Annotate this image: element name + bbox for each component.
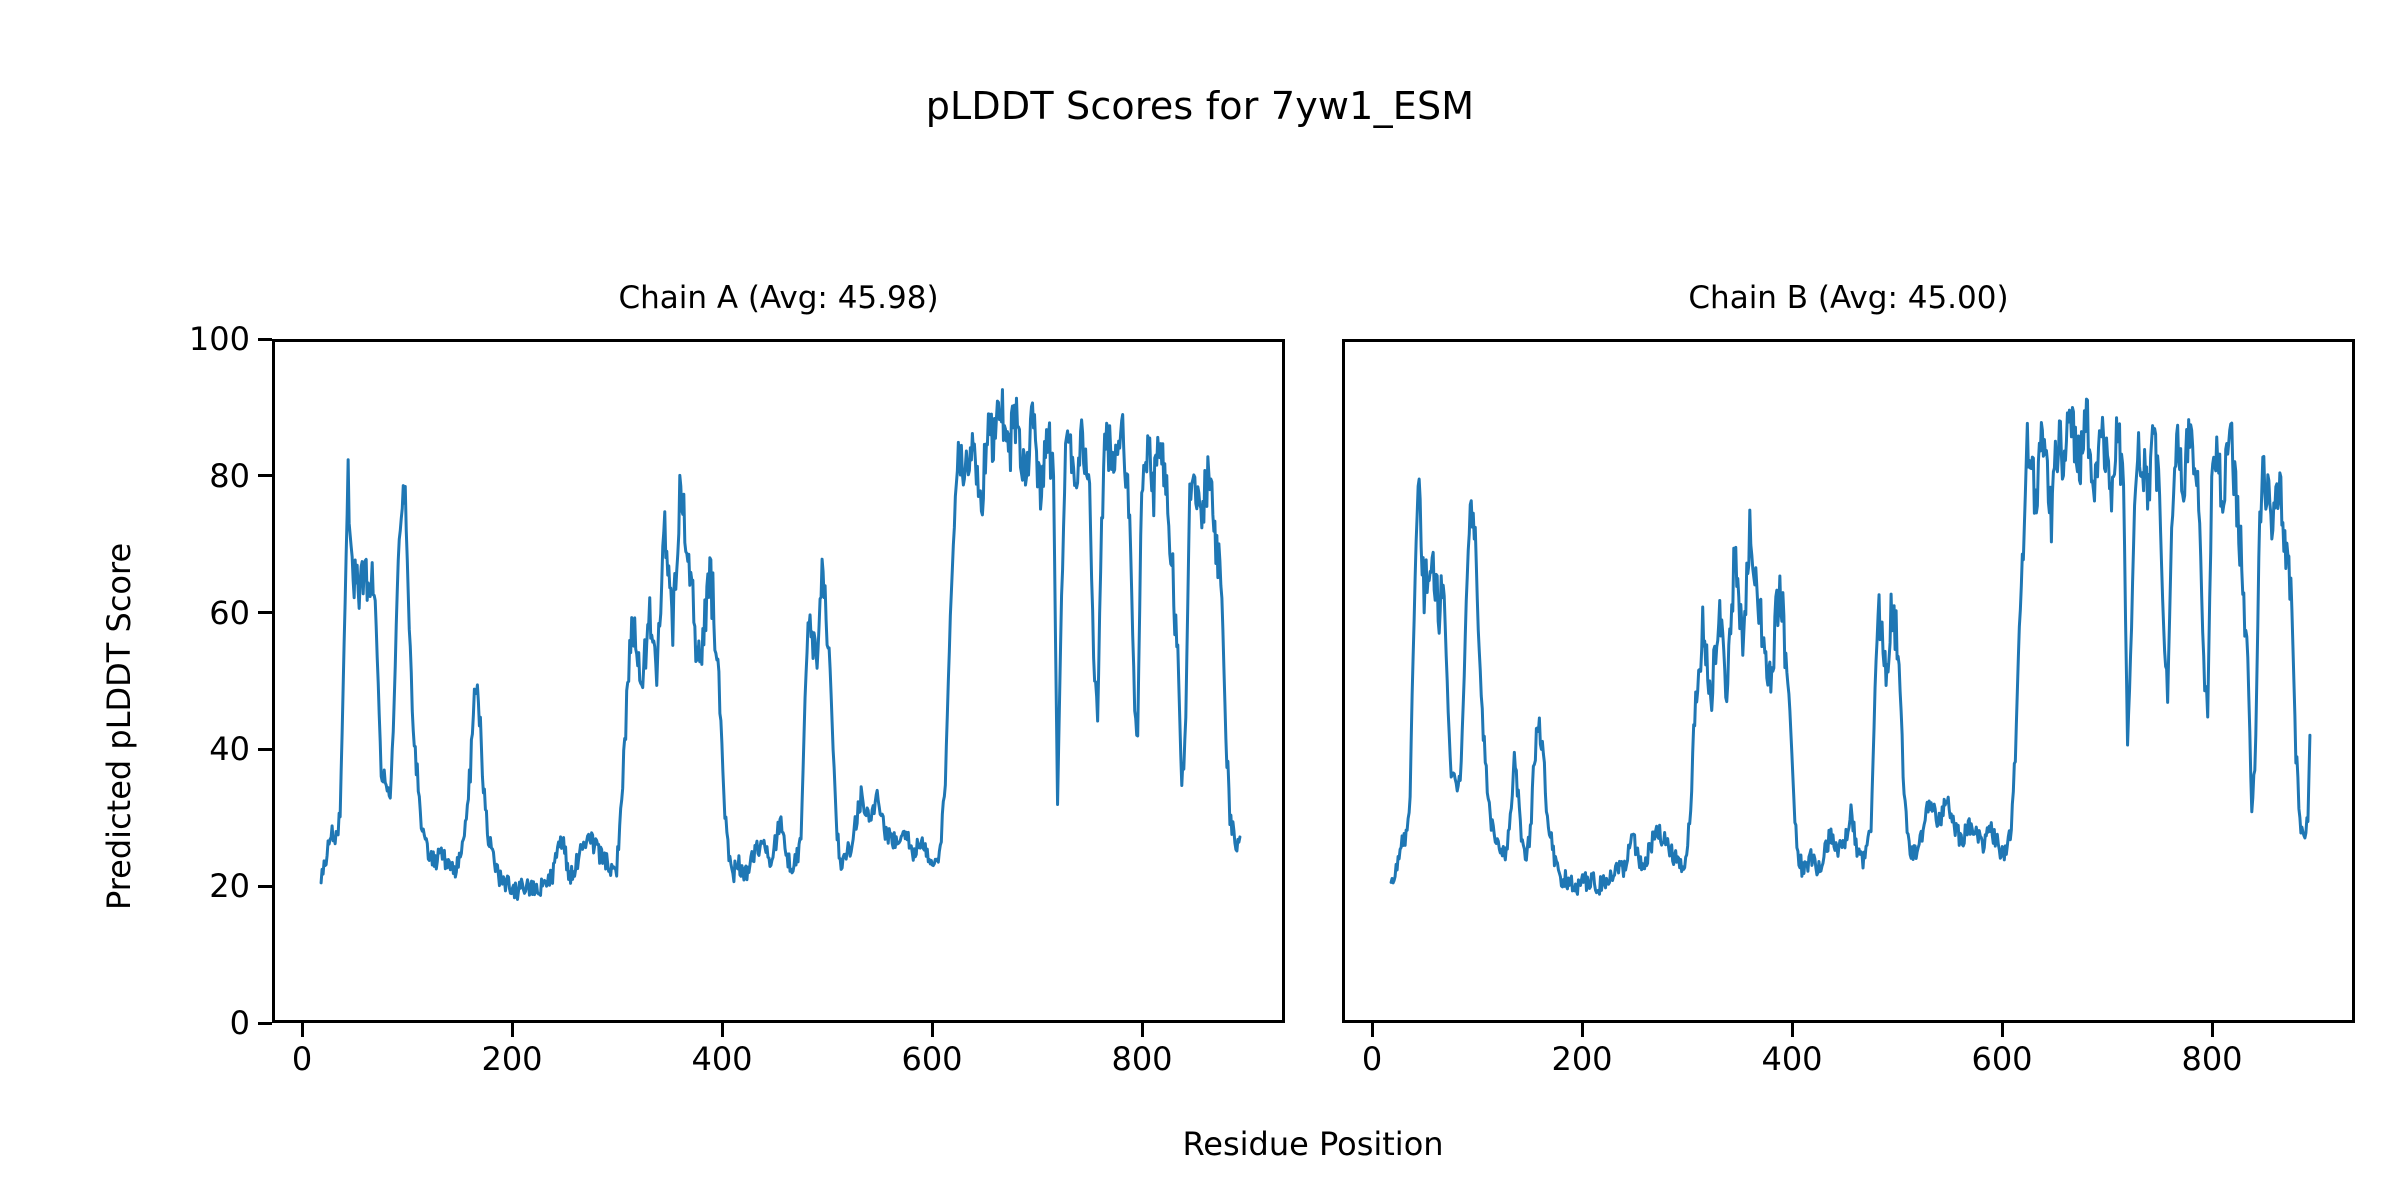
figure-title: pLDDT Scores for 7yw1_ESM — [0, 84, 2400, 128]
plot-area-chain-b — [1342, 339, 2355, 1023]
xtick-b-mark-0 — [1371, 1023, 1374, 1037]
panel-title-chain-b: Chain B (Avg: 45.00) — [1342, 280, 2355, 316]
xtick-a-label-0: 0 — [222, 1040, 382, 1078]
ytick-mark-60 — [258, 611, 272, 614]
xtick-b-mark-600 — [2001, 1023, 2004, 1037]
xtick-b-label-0: 0 — [1292, 1040, 1452, 1078]
ytick-mark-20 — [258, 885, 272, 888]
xtick-b-mark-200 — [1581, 1023, 1584, 1037]
ytick-label-60: 60 — [120, 594, 250, 632]
xtick-b-mark-800 — [2211, 1023, 2214, 1037]
ytick-mark-80 — [258, 474, 272, 477]
xtick-a-mark-0 — [301, 1023, 304, 1037]
ytick-label-80: 80 — [120, 457, 250, 495]
xtick-b-label-400: 400 — [1712, 1040, 1872, 1078]
xtick-b-mark-400 — [1791, 1023, 1794, 1037]
xtick-a-label-200: 200 — [432, 1040, 592, 1078]
ytick-label-0: 0 — [120, 1004, 250, 1042]
figure-canvas: pLDDT Scores for 7yw1_ESM Predicted pLDD… — [0, 0, 2400, 1200]
xtick-a-label-600: 600 — [852, 1040, 1012, 1078]
panel-title-chain-a: Chain A (Avg: 45.98) — [272, 280, 1285, 316]
ytick-label-100: 100 — [120, 320, 250, 358]
xtick-a-mark-200 — [511, 1023, 514, 1037]
ytick-label-20: 20 — [120, 867, 250, 905]
xtick-b-label-800: 800 — [2132, 1040, 2292, 1078]
xtick-a-label-800: 800 — [1062, 1040, 1222, 1078]
x-axis-label: Residue Position — [913, 1125, 1713, 1163]
ytick-mark-40 — [258, 748, 272, 751]
ytick-mark-100 — [258, 338, 272, 341]
xtick-a-mark-800 — [1141, 1023, 1144, 1037]
xtick-b-label-600: 600 — [1922, 1040, 2082, 1078]
xtick-a-label-400: 400 — [642, 1040, 802, 1078]
ytick-label-40: 40 — [120, 730, 250, 768]
plot-line-chain-a — [275, 342, 1282, 1020]
ytick-mark-0 — [258, 1022, 272, 1025]
xtick-b-label-200: 200 — [1502, 1040, 1662, 1078]
plot-area-chain-a — [272, 339, 1285, 1023]
plot-line-chain-b — [1345, 342, 2352, 1020]
xtick-a-mark-600 — [931, 1023, 934, 1037]
xtick-a-mark-400 — [721, 1023, 724, 1037]
